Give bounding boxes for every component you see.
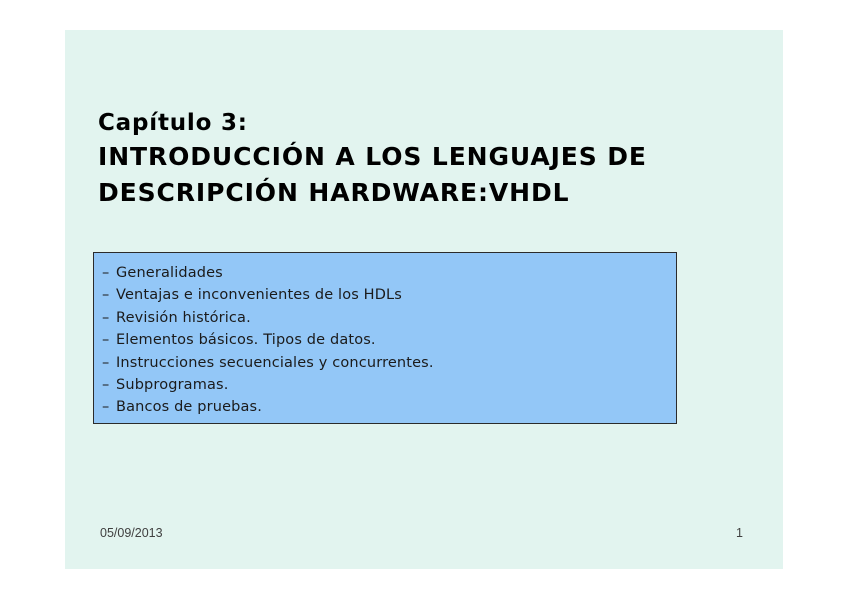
list-item: – Revisión histórica. xyxy=(102,307,676,329)
list-item: – Elementos básicos. Tipos de datos. xyxy=(102,329,676,351)
bullet-marker-icon: – xyxy=(102,352,116,374)
bullet-marker-icon: – xyxy=(102,307,116,329)
list-item-label: Generalidades xyxy=(116,262,223,284)
bullet-marker-icon: – xyxy=(102,374,116,396)
list-item-label: Bancos de pruebas. xyxy=(116,396,262,418)
list-item-label: Ventajas e inconvenientes de los HDLs xyxy=(116,284,402,306)
list-item-label: Revisión histórica. xyxy=(116,307,251,329)
title-line-2: DESCRIPCIÓN HARDWARE:VHDL xyxy=(98,175,748,211)
title-line-1: INTRODUCCIÓN A LOS LENGUAJES DE xyxy=(98,139,748,175)
slide-title: Capítulo 3: INTRODUCCIÓN A LOS LENGUAJES… xyxy=(98,107,748,211)
list-item-label: Elementos básicos. Tipos de datos. xyxy=(116,329,376,351)
list-item: – Instrucciones secuenciales y concurren… xyxy=(102,352,676,374)
list-item: – Ventajas e inconvenientes de los HDLs xyxy=(102,284,676,306)
bullet-marker-icon: – xyxy=(102,396,116,418)
list-item: – Bancos de pruebas. xyxy=(102,396,676,418)
bullet-marker-icon: – xyxy=(102,284,116,306)
footer-date: 05/09/2013 xyxy=(100,526,163,540)
footer-page-number: 1 xyxy=(736,526,743,540)
list-item-label: Instrucciones secuenciales y concurrente… xyxy=(116,352,434,374)
content-box: – Generalidades – Ventajas e inconvenien… xyxy=(93,252,677,424)
list-item: – Subprogramas. xyxy=(102,374,676,396)
slide-canvas: Capítulo 3: INTRODUCCIÓN A LOS LENGUAJES… xyxy=(65,30,783,569)
list-item: – Generalidades xyxy=(102,262,676,284)
list-item-label: Subprogramas. xyxy=(116,374,229,396)
title-chapter: Capítulo 3: xyxy=(98,107,748,139)
bullet-marker-icon: – xyxy=(102,262,116,284)
bullet-marker-icon: – xyxy=(102,329,116,351)
